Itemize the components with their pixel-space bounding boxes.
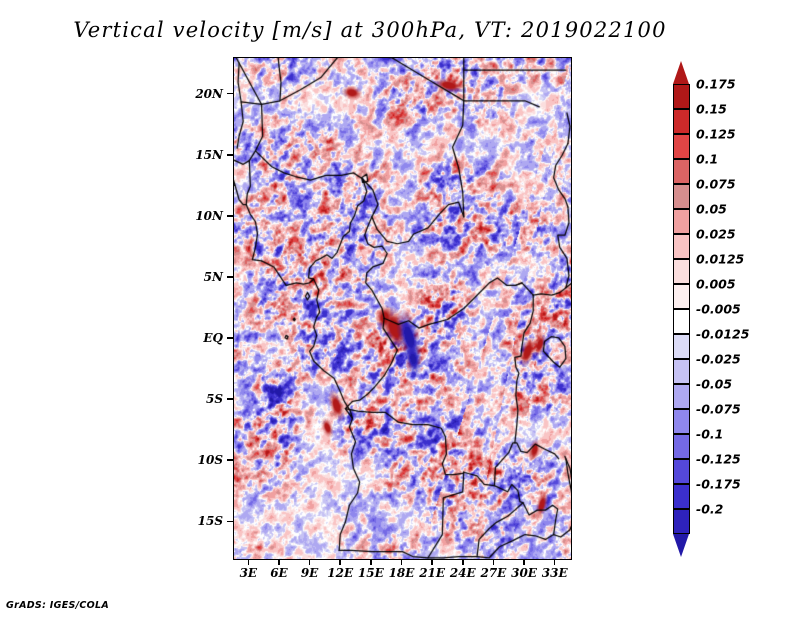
colorbar-tick-label: -0.2 [696, 502, 723, 517]
colorbar-band [673, 134, 690, 159]
lon-tick-mark [278, 559, 280, 565]
lon-tick-label-18e: 18E [389, 566, 415, 580]
lat-tick-label-10s: 10S [175, 453, 223, 467]
lon-tick-label-30e: 30E [511, 566, 537, 580]
lon-tick-label-9e: 9E [301, 566, 319, 580]
colorbar-band [673, 334, 690, 359]
lat-tick-mark [227, 521, 233, 523]
lon-tick-mark [309, 559, 311, 565]
colorbar-tick-label: 0.0125 [696, 252, 744, 267]
colorbar-tick-label: 0.15 [696, 102, 727, 117]
lon-tick-mark [370, 559, 372, 565]
colorbar-band [673, 84, 690, 109]
lon-tick-label-27e: 27E [480, 566, 506, 580]
colorbar-tick-label: 0.1 [696, 152, 718, 167]
colorbar-tick-label: -0.1 [696, 427, 723, 442]
lat-tick-mark [227, 459, 233, 461]
lon-tick-mark [339, 559, 341, 565]
colorbar-tick-label: 0.025 [696, 227, 736, 242]
lon-tick-mark [401, 559, 403, 565]
colorbar-band [673, 509, 690, 534]
colorbar-band [673, 409, 690, 434]
colorbar-tick-label: 0.175 [696, 77, 736, 92]
lon-tick-label-24e: 24E [450, 566, 476, 580]
lat-tick-label-5s: 5S [175, 392, 223, 406]
colorbar-band [673, 234, 690, 259]
colorbar-band [673, 159, 690, 184]
lon-tick-label-6e: 6E [270, 566, 288, 580]
colorbar-band [673, 384, 690, 409]
colorbar-tick-label: -0.005 [696, 302, 741, 317]
lon-tick-label-3e: 3E [240, 566, 258, 580]
colorbar-band [673, 359, 690, 384]
lat-tick-label-5n: 5N [175, 270, 223, 284]
lon-tick-label-21e: 21E [419, 566, 445, 580]
colorbar-band [673, 209, 690, 234]
colorbar-band [673, 184, 690, 209]
lat-tick-label-15n: 15N [175, 148, 223, 162]
colorbar-tick-label: 0.125 [696, 127, 736, 142]
map-plot-area [233, 57, 572, 560]
lon-tick-mark [554, 559, 556, 565]
colorbar-band [673, 284, 690, 309]
colorbar-tick-label: 0.075 [696, 177, 736, 192]
colorbar-tick-label: -0.175 [696, 477, 741, 492]
lat-tick-label-20n: 20N [175, 87, 223, 101]
lon-tick-mark [248, 559, 250, 565]
lon-tick-mark [493, 559, 495, 565]
colorbar-tick-label: 0.005 [696, 277, 736, 292]
colorbar-band [673, 484, 690, 509]
page-title: Vertical velocity [m/s] at 300hPa, VT: 2… [0, 18, 740, 42]
colorbar-tick-label: -0.075 [696, 402, 741, 417]
lat-tick-label-15s: 15S [175, 514, 223, 528]
lon-tick-label-12e: 12E [327, 566, 353, 580]
colorbar-extend-max-arrow [673, 61, 689, 84]
lat-tick-mark [227, 276, 233, 278]
grads-credit: GrADS: IGES/COLA [6, 600, 109, 611]
lon-tick-mark [431, 559, 433, 565]
lon-tick-label-15e: 15E [358, 566, 384, 580]
lat-tick-mark [227, 93, 233, 95]
colorbar-tick-label: -0.0125 [696, 327, 749, 342]
lat-tick-mark [227, 337, 233, 339]
lon-tick-mark [523, 559, 525, 565]
colorbar-band [673, 309, 690, 334]
lat-tick-mark [227, 154, 233, 156]
lon-tick-label-33e: 33E [542, 566, 568, 580]
lon-tick-mark [462, 559, 464, 565]
colorbar-extend-min-arrow [673, 534, 689, 557]
colorbar-band [673, 434, 690, 459]
country-borders-overlay [234, 58, 571, 559]
colorbar-band [673, 259, 690, 284]
lat-tick-label-10n: 10N [175, 209, 223, 223]
colorbar-tick-label: 0.05 [696, 202, 727, 217]
colorbar-tick-label: -0.05 [696, 377, 732, 392]
colorbar-tick-label: -0.125 [696, 452, 741, 467]
colorbar-band [673, 109, 690, 134]
colorbar-band [673, 459, 690, 484]
lat-tick-mark [227, 398, 233, 400]
lat-tick-label-eq: EQ [175, 331, 223, 345]
colorbar-tick-label: -0.025 [696, 352, 741, 367]
lat-tick-mark [227, 215, 233, 217]
